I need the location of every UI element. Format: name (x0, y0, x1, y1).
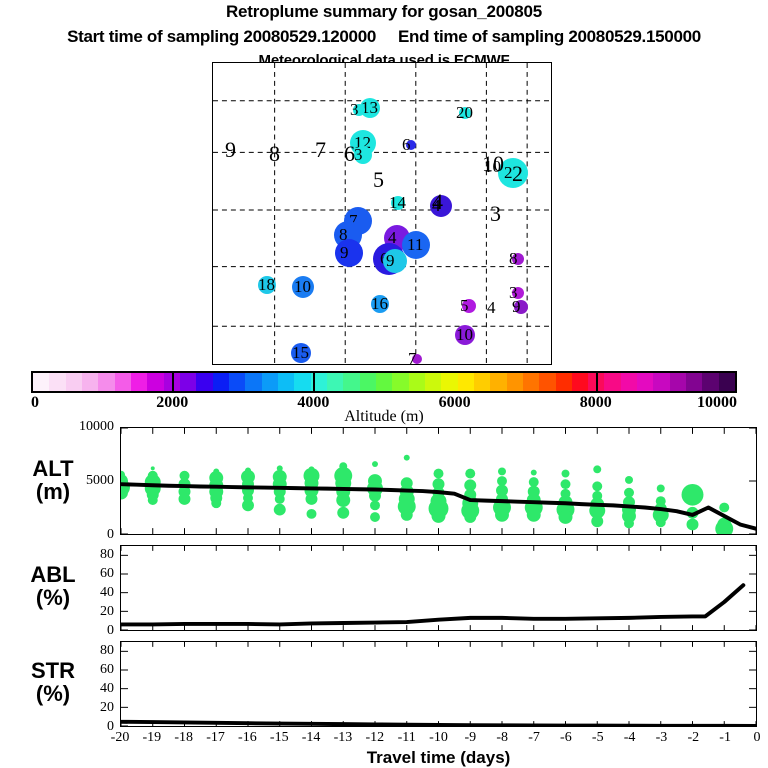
colorbar-swatch (196, 373, 212, 391)
y-tick-label: 5000 (50, 473, 114, 489)
y-tick-label: 20 (50, 604, 114, 620)
colorbar-swatch (425, 373, 441, 391)
trajectory-day-label: 5 (373, 169, 384, 191)
alt-chart-panel[interactable] (120, 427, 757, 535)
colorbar-divider (313, 371, 315, 393)
trajectory-day-label: 4 (432, 191, 443, 213)
colorbar-swatch (604, 373, 620, 391)
colorbar-swatch (33, 373, 49, 391)
colorbar-swatch (66, 373, 82, 391)
colorbar-swatch (702, 373, 718, 391)
colorbar-swatch (213, 373, 229, 391)
colorbar-title: Altitude (m) (0, 408, 768, 426)
y-tick-label: 60 (50, 566, 114, 582)
colorbar-swatch (653, 373, 669, 391)
retroplume-map[interactable]: 133201236210144789411698181016395410715 … (212, 62, 552, 365)
y-tick-label: 40 (50, 681, 114, 697)
y-tick-label: 10000 (50, 419, 114, 435)
colorbar-swatch (147, 373, 163, 391)
colorbar-swatch (458, 373, 474, 391)
trajectory-day-label: 7 (315, 139, 326, 161)
y-tick-label: 40 (50, 585, 114, 601)
alt-chart-svg (121, 428, 756, 534)
abl-chart-panel[interactable] (120, 545, 757, 631)
colorbar-swatch (621, 373, 637, 391)
colorbar-swatch (229, 373, 245, 391)
y-tick-label: 0 (50, 527, 114, 543)
colorbar-swatch (180, 373, 196, 391)
colorbar-swatch (637, 373, 653, 391)
trajectory-day-label: 6 (344, 143, 355, 165)
colorbar-swatch (360, 373, 376, 391)
trajectory-day-label: 9 (225, 139, 236, 161)
colorbar-swatch (343, 373, 359, 391)
map-trajectory-labels: 9876543102 (213, 63, 551, 364)
str-chart-panel[interactable] (120, 641, 757, 727)
colorbar-swatch (82, 373, 98, 391)
colorbar-swatch (278, 373, 294, 391)
y-tick-label: 0 (50, 623, 114, 639)
colorbar-swatch (409, 373, 425, 391)
x-axis-title: Travel time (days) (120, 748, 757, 768)
colorbar-swatch (490, 373, 506, 391)
colorbar-swatch (294, 373, 310, 391)
colorbar-swatch (376, 373, 392, 391)
trajectory-day-label: 2 (512, 163, 523, 185)
colorbar-swatch (49, 373, 65, 391)
x-tick-label: 0 (737, 730, 768, 746)
str-chart-svg (121, 642, 756, 726)
colorbar-swatch (719, 373, 735, 391)
end-time-label: End time of sampling 20080529.150000 (398, 27, 701, 46)
altitude-colorbar[interactable] (31, 371, 737, 393)
trajectory-day-label: 10 (482, 153, 504, 175)
colorbar-swatch (115, 373, 131, 391)
colorbar-swatch (539, 373, 555, 391)
colorbar-swatch (131, 373, 147, 391)
colorbar-swatch (327, 373, 343, 391)
start-time-label: Start time of sampling 20080529.120000 (67, 27, 376, 46)
y-tick-label: 80 (50, 643, 114, 659)
trajectory-day-label: 8 (269, 143, 280, 165)
y-tick-label: 80 (50, 547, 114, 563)
colorbar-swatch (98, 373, 114, 391)
colorbar-divider (596, 371, 598, 393)
trajectory-day-label: 3 (490, 203, 501, 225)
colorbar-swatch (392, 373, 408, 391)
page-title: Retroplume summary for gosan_200805 (0, 2, 768, 22)
colorbar-swatch (523, 373, 539, 391)
colorbar-swatch (474, 373, 490, 391)
sampling-time-row: Start time of sampling 20080529.120000En… (0, 27, 768, 47)
colorbar-swatch (507, 373, 523, 391)
colorbar-swatch (556, 373, 572, 391)
colorbar-swatch (572, 373, 588, 391)
y-tick-label: 60 (50, 662, 114, 678)
colorbar-divider (172, 371, 174, 393)
colorbar-swatch (441, 373, 457, 391)
y-tick-label: 20 (50, 700, 114, 716)
colorbar-swatch (245, 373, 261, 391)
colorbar-swatch (262, 373, 278, 391)
colorbar-swatch (670, 373, 686, 391)
abl-chart-svg (121, 546, 756, 630)
colorbar-swatch (686, 373, 702, 391)
